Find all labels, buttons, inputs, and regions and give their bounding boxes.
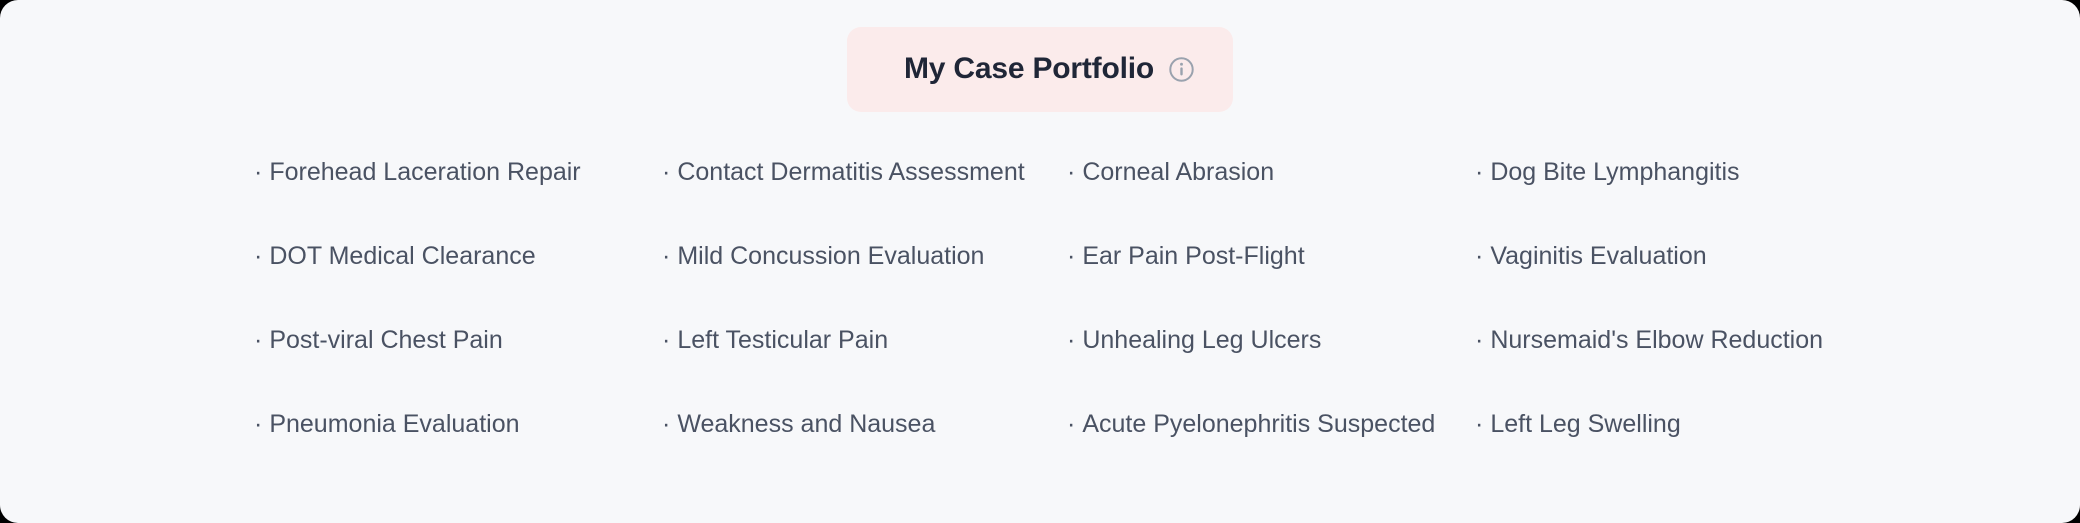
bullet-marker: ·	[254, 158, 262, 186]
case-label: Unhealing Leg Ulcers	[1082, 326, 1321, 354]
case-label: Corneal Abrasion	[1082, 158, 1274, 186]
case-list-item[interactable]: ·Post-viral Chest Pain	[254, 323, 662, 357]
case-label: Left Leg Swelling	[1490, 410, 1680, 438]
case-label: Left Testicular Pain	[677, 326, 888, 354]
case-list-item[interactable]: ·Weakness and Nausea	[662, 407, 1067, 441]
case-label: Mild Concussion Evaluation	[677, 242, 984, 270]
case-list-item[interactable]: ·Mild Concussion Evaluation	[662, 239, 1067, 273]
case-label: Nursemaid's Elbow Reduction	[1490, 326, 1823, 354]
bullet-marker: ·	[1475, 242, 1483, 270]
page-title: My Case Portfolio	[904, 54, 1154, 84]
case-label: Dog Bite Lymphangitis	[1490, 158, 1739, 186]
case-label: Forehead Laceration Repair	[269, 158, 580, 186]
case-list-item[interactable]: ·Pneumonia Evaluation	[254, 407, 662, 441]
case-list-item[interactable]: ·DOT Medical Clearance	[254, 239, 662, 273]
bullet-marker: ·	[662, 326, 670, 354]
case-label: Pneumonia Evaluation	[269, 410, 519, 438]
case-label: Ear Pain Post-Flight	[1082, 242, 1304, 270]
bullet-marker: ·	[1475, 326, 1483, 354]
case-list-item[interactable]: ·Contact Dermatitis Assessment	[662, 155, 1067, 189]
bullet-marker: ·	[662, 410, 670, 438]
bullet-marker: ·	[662, 242, 670, 270]
case-list-item[interactable]: ·Nursemaid's Elbow Reduction	[1475, 323, 1895, 357]
bullet-marker: ·	[254, 242, 262, 270]
bullet-marker: ·	[254, 410, 262, 438]
case-label: DOT Medical Clearance	[269, 242, 535, 270]
bullet-marker: ·	[1067, 242, 1075, 270]
card-header: My Case Portfolio	[0, 27, 2080, 112]
case-list-item[interactable]: ·Forehead Laceration Repair	[254, 155, 662, 189]
bullet-marker: ·	[1067, 326, 1075, 354]
bullet-marker: ·	[254, 326, 262, 354]
case-list-item[interactable]: ·Corneal Abrasion	[1067, 155, 1475, 189]
bullet-marker: ·	[662, 158, 670, 186]
case-list-grid: ·Forehead Laceration Repair·Contact Derm…	[254, 155, 1954, 491]
title-pill: My Case Portfolio	[847, 27, 1233, 112]
info-icon[interactable]	[1168, 56, 1195, 83]
case-portfolio-card: My Case Portfolio ·Forehead Laceration R…	[0, 0, 2080, 523]
case-list-item[interactable]: ·Dog Bite Lymphangitis	[1475, 155, 1895, 189]
bullet-marker: ·	[1475, 158, 1483, 186]
screenshot-root: My Case Portfolio ·Forehead Laceration R…	[0, 0, 2080, 523]
case-list-item[interactable]: ·Unhealing Leg Ulcers	[1067, 323, 1475, 357]
bullet-marker: ·	[1067, 158, 1075, 186]
case-label: Acute Pyelonephritis Suspected	[1082, 410, 1435, 438]
case-list-item[interactable]: ·Ear Pain Post-Flight	[1067, 239, 1475, 273]
case-label: Vaginitis Evaluation	[1490, 242, 1706, 270]
case-label: Weakness and Nausea	[677, 410, 935, 438]
case-list-item[interactable]: ·Left Testicular Pain	[662, 323, 1067, 357]
case-list-item[interactable]: ·Vaginitis Evaluation	[1475, 239, 1895, 273]
case-list-item[interactable]: ·Acute Pyelonephritis Suspected	[1067, 407, 1475, 441]
bullet-marker: ·	[1067, 410, 1075, 438]
case-label: Contact Dermatitis Assessment	[677, 158, 1024, 186]
case-list-item[interactable]: ·Left Leg Swelling	[1475, 407, 1895, 441]
case-label: Post-viral Chest Pain	[269, 326, 502, 354]
bullet-marker: ·	[1475, 410, 1483, 438]
